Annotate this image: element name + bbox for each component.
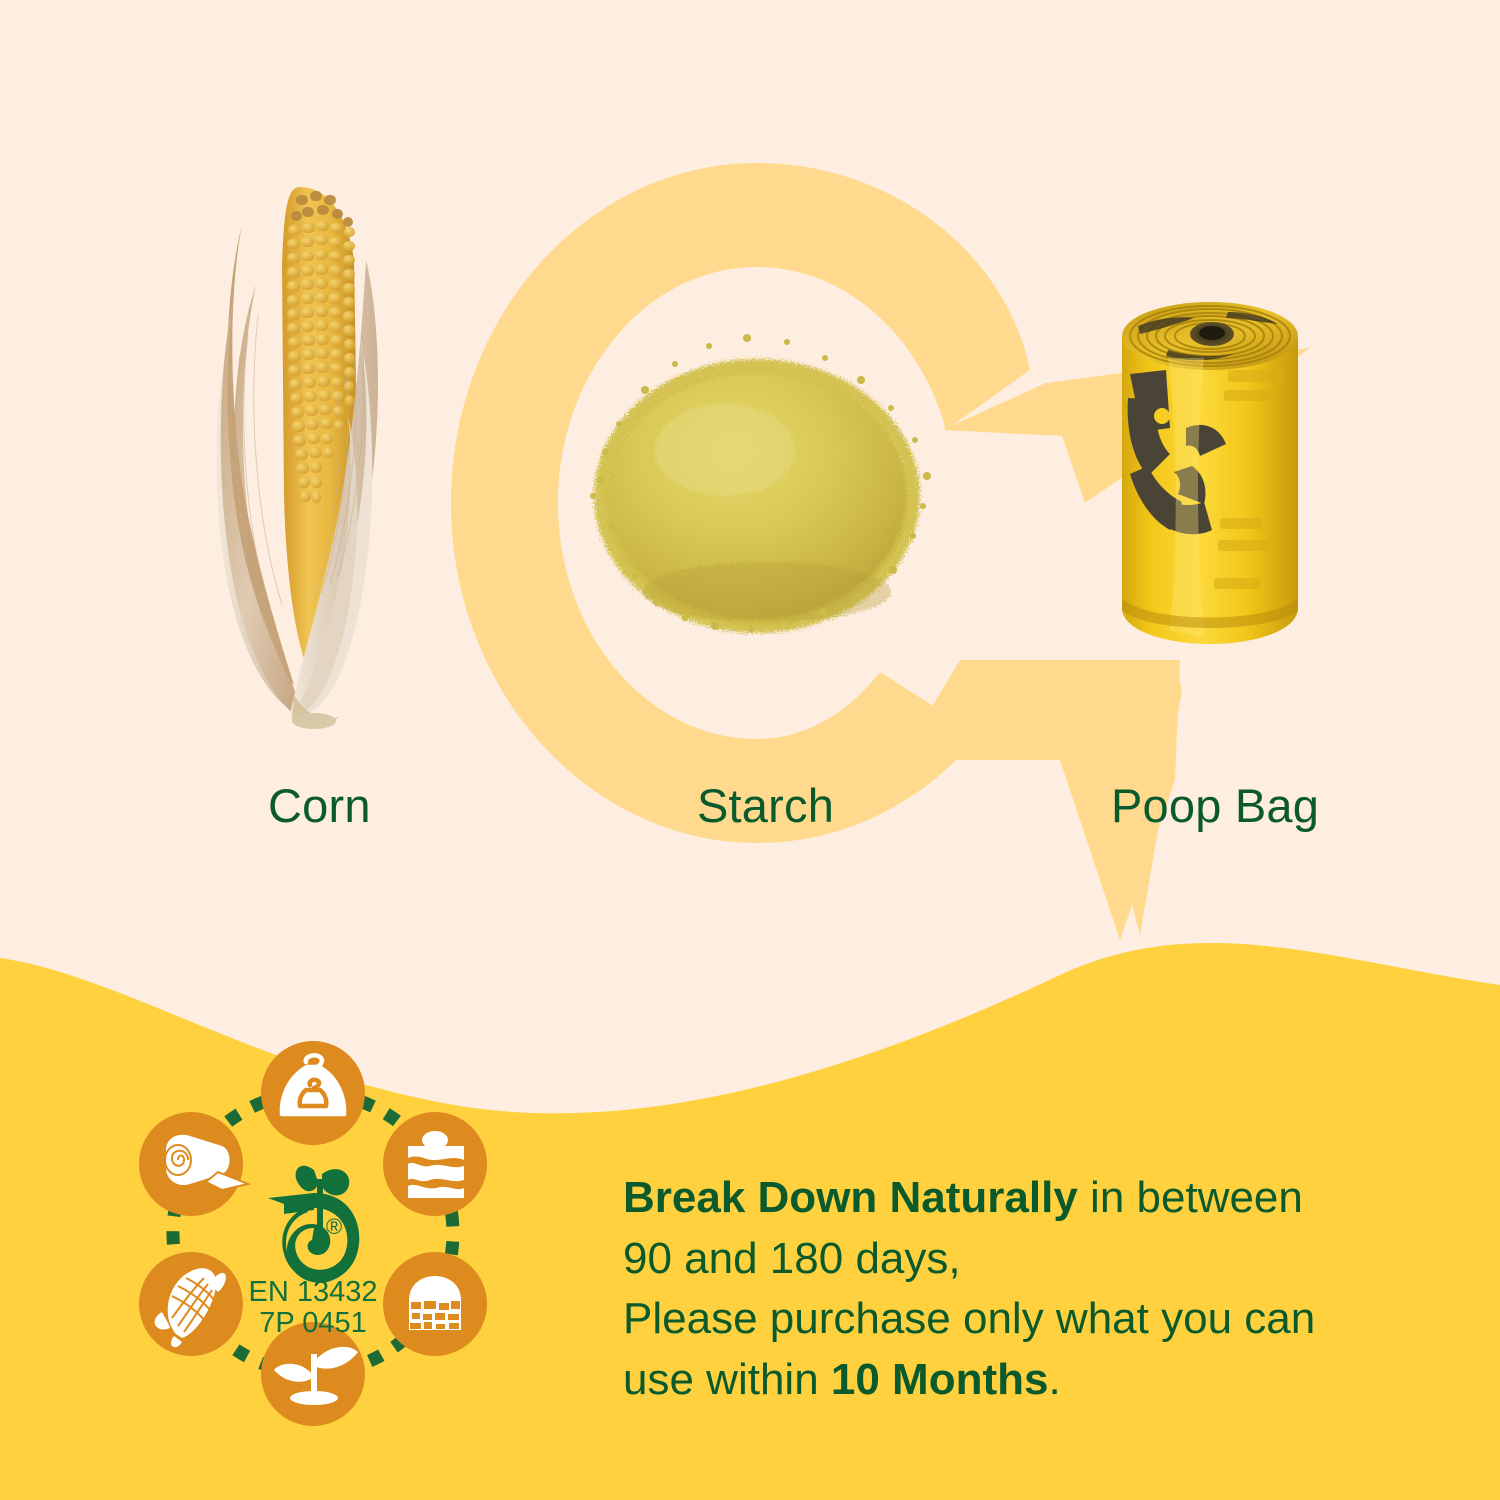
- message-line-4: use within 10 Months.: [623, 1350, 1423, 1411]
- corn-cob-image: [198, 165, 408, 740]
- badge-icon-corn-cob: [139, 1252, 243, 1356]
- message-line-2: 90 and 180 days,: [623, 1229, 1423, 1290]
- message-line-3: Please purchase only what you can: [623, 1289, 1423, 1350]
- message-line-4-suffix: .: [1048, 1355, 1060, 1404]
- certification-standard-line2: 7P 0451: [259, 1307, 367, 1339]
- starch-powder-image: [575, 330, 945, 635]
- compostable-certification-badge: ® EN 13432 7P 0451: [118, 1038, 508, 1428]
- badge-icon-compost-soil: [383, 1252, 487, 1356]
- seedling-logo-icon: [268, 1166, 359, 1283]
- message-line-1: Break Down Naturally in between: [623, 1168, 1423, 1229]
- product-label-poop-bag: Poop Bag: [1111, 782, 1319, 829]
- badge-icon-soil-layers: [383, 1112, 487, 1216]
- message-line-4-prefix: use within: [623, 1355, 831, 1404]
- message-line-1-rest: in between: [1078, 1173, 1303, 1222]
- breakdown-message: Break Down Naturally in between 90 and 1…: [623, 1168, 1423, 1411]
- badge-icon-bag-roll: [139, 1112, 248, 1216]
- poop-bag-roll-image: [1108, 278, 1313, 663]
- message-line-4-bold: 10 Months: [831, 1355, 1049, 1404]
- product-label-corn: Corn: [268, 782, 371, 829]
- product-label-starch: Starch: [697, 782, 834, 829]
- registered-symbol: ®: [326, 1214, 342, 1239]
- message-line-1-bold: Break Down Naturally: [623, 1173, 1078, 1222]
- certification-standard-line1: EN 13432: [249, 1276, 378, 1308]
- badge-icon-tied-poop-bag: [261, 1041, 365, 1145]
- infographic-canvas: Corn Starch Poop Bag: [0, 0, 1500, 1500]
